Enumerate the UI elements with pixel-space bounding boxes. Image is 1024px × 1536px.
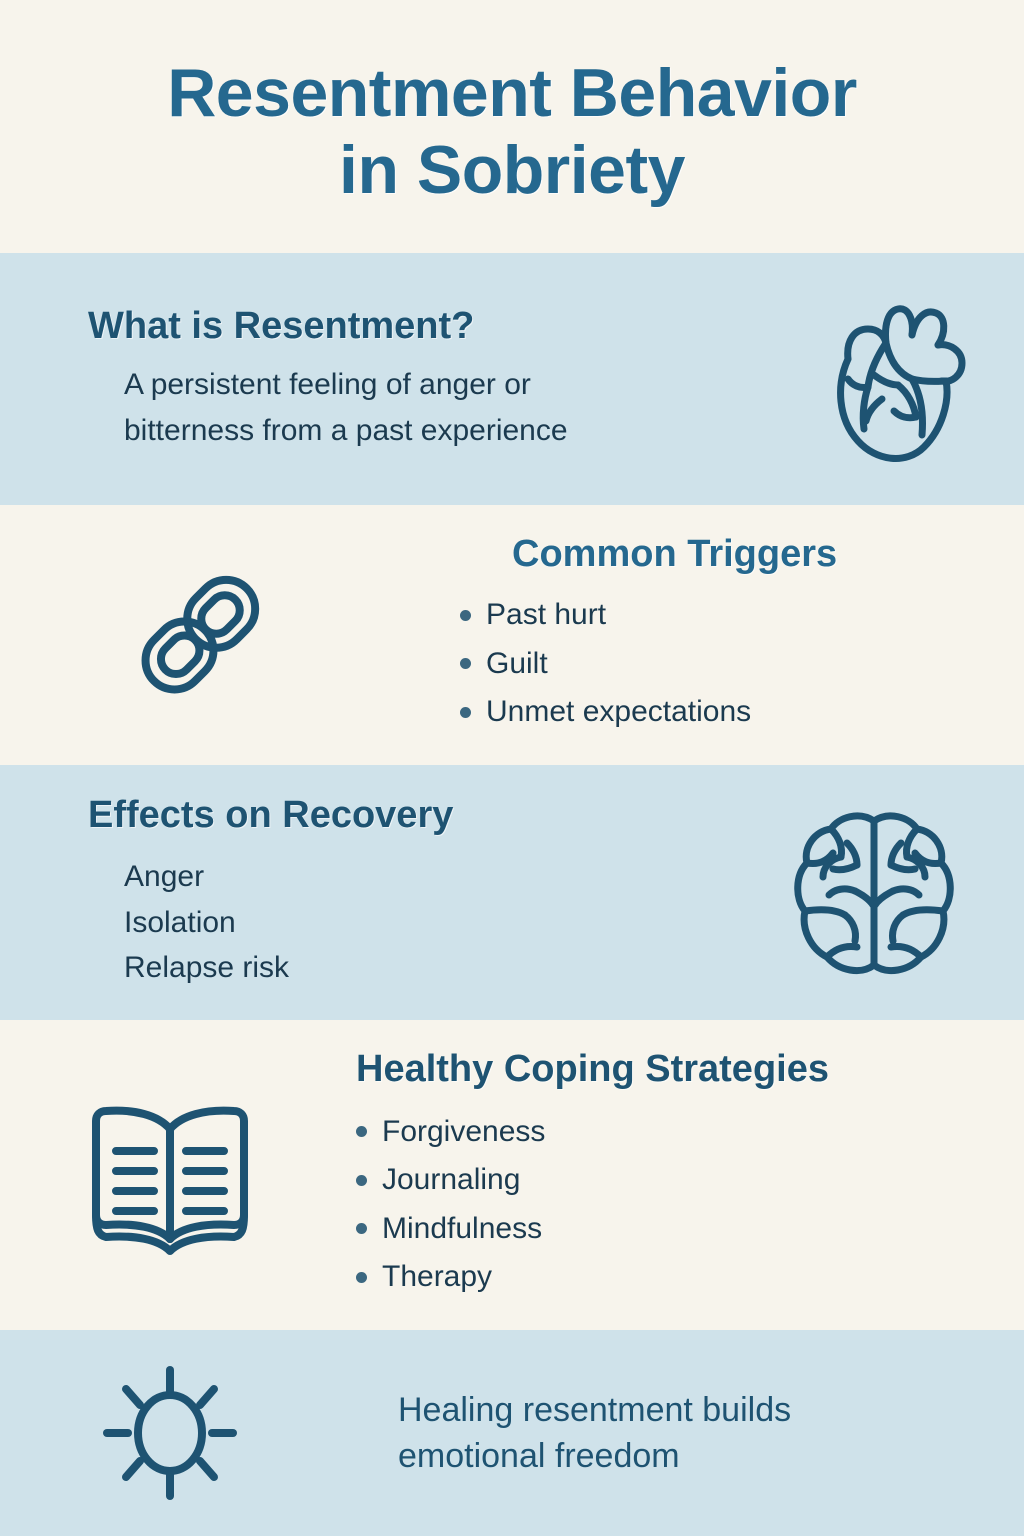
section-what-is-resentment: What is Resentment? A persistent feeling…: [0, 253, 1024, 505]
list-item: Mindfulness: [348, 1205, 829, 1254]
page-title: Resentment Behavior in Sobriety: [0, 0, 1024, 253]
section-3-heading: Effects on Recovery: [88, 794, 724, 838]
list-item: Isolation: [124, 900, 724, 946]
closing-text-line-1: Healing resentment builds: [398, 1387, 791, 1433]
section-effects-on-recovery: Effects on Recovery Anger Isolation Rela…: [0, 765, 1024, 1020]
list-item: Therapy: [348, 1253, 829, 1302]
heart-icon: [784, 289, 1024, 469]
brain-icon: [724, 803, 1024, 983]
section-2-text-column: Common Triggers Past hurt Guilt Unmet ex…: [400, 533, 837, 736]
section-1-body: A persistent feeling of anger or bittern…: [88, 362, 784, 453]
section-4-bullet-list: Forgiveness Journaling Mindfulness Thera…: [348, 1108, 829, 1302]
section-4-heading: Healthy Coping Strategies: [348, 1048, 829, 1092]
section-common-triggers: Common Triggers Past hurt Guilt Unmet ex…: [0, 505, 1024, 765]
section-1-body-line-1: A persistent feeling of anger or: [124, 362, 784, 408]
section-1-heading: What is Resentment?: [88, 305, 784, 349]
section-3-body: Anger Isolation Relapse risk: [88, 854, 724, 991]
sun-icon: [0, 1358, 340, 1508]
list-item: Forgiveness: [348, 1108, 829, 1157]
section-closing-message: Healing resentment builds emotional free…: [0, 1330, 1024, 1536]
list-item: Anger: [124, 854, 724, 900]
page-title-line-2: in Sobriety: [339, 132, 685, 208]
section-4-text-column: Healthy Coping Strategies Forgiveness Jo…: [340, 1048, 829, 1302]
section-healthy-coping-strategies: Healthy Coping Strategies Forgiveness Jo…: [0, 1020, 1024, 1330]
page-title-line-1: Resentment Behavior: [167, 55, 857, 131]
list-item: Unmet expectations: [452, 688, 837, 737]
book-icon: [0, 1093, 340, 1258]
section-2-heading: Common Triggers: [452, 533, 837, 577]
closing-text-line-2: emotional freedom: [398, 1433, 791, 1479]
section-3-text-column: Effects on Recovery Anger Isolation Rela…: [0, 794, 724, 990]
section-5-text-column: Healing resentment builds emotional free…: [340, 1387, 791, 1479]
section-2-bullet-list: Past hurt Guilt Unmet expectations: [452, 591, 837, 737]
list-item: Past hurt: [452, 591, 837, 640]
chain-link-icon: [0, 548, 400, 723]
list-item: Relapse risk: [124, 945, 724, 991]
section-1-text-column: What is Resentment? A persistent feeling…: [0, 305, 784, 454]
list-item: Guilt: [452, 640, 837, 689]
list-item: Journaling: [348, 1156, 829, 1205]
section-1-body-line-2: bitterness from a past experience: [124, 408, 784, 454]
